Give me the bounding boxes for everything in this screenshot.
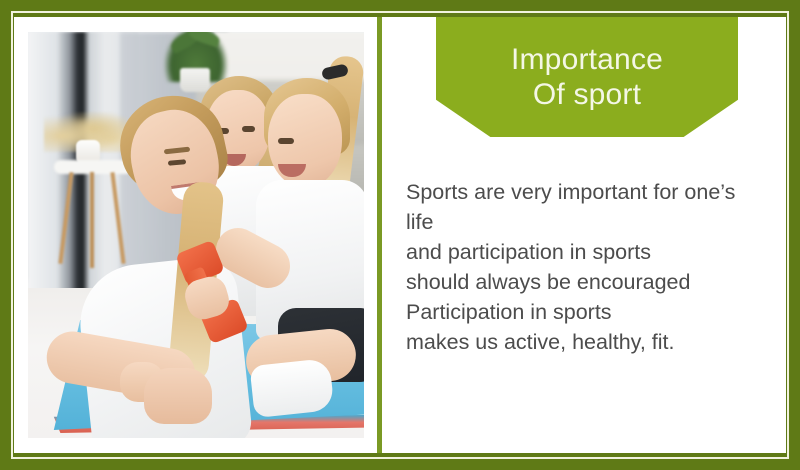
body-line: Sports are very important for one’s (406, 177, 786, 207)
photo-table-leg-center (90, 172, 94, 268)
right-pane: Importance Of sport Sports are very impo… (382, 17, 786, 453)
photo-family-workout (28, 32, 364, 438)
vertical-divider (377, 17, 382, 453)
body-line: makes us active, healthy, fit. (406, 327, 786, 357)
photo-woman-hand (144, 368, 212, 424)
photo-frame (21, 25, 371, 445)
body-line: should always be encouraged (406, 267, 786, 297)
slide: Importance Of sport Sports are very impo… (0, 0, 800, 470)
slide-canvas: Importance Of sport Sports are very impo… (14, 17, 786, 453)
title-line-two: Of sport (533, 78, 641, 113)
photo-girl-right-eye (278, 138, 294, 144)
body-text-block: Sports are very important for one’s life… (406, 177, 786, 357)
body-line: life (406, 207, 786, 237)
photo-plant-pot (180, 68, 210, 92)
body-line: and participation in sports (406, 237, 786, 267)
body-line: Participation in sports (406, 297, 786, 327)
photo-girl-middle-eye-right (242, 126, 255, 132)
title-banner: Importance Of sport (436, 17, 738, 137)
title-line-one: Importance (511, 43, 663, 78)
